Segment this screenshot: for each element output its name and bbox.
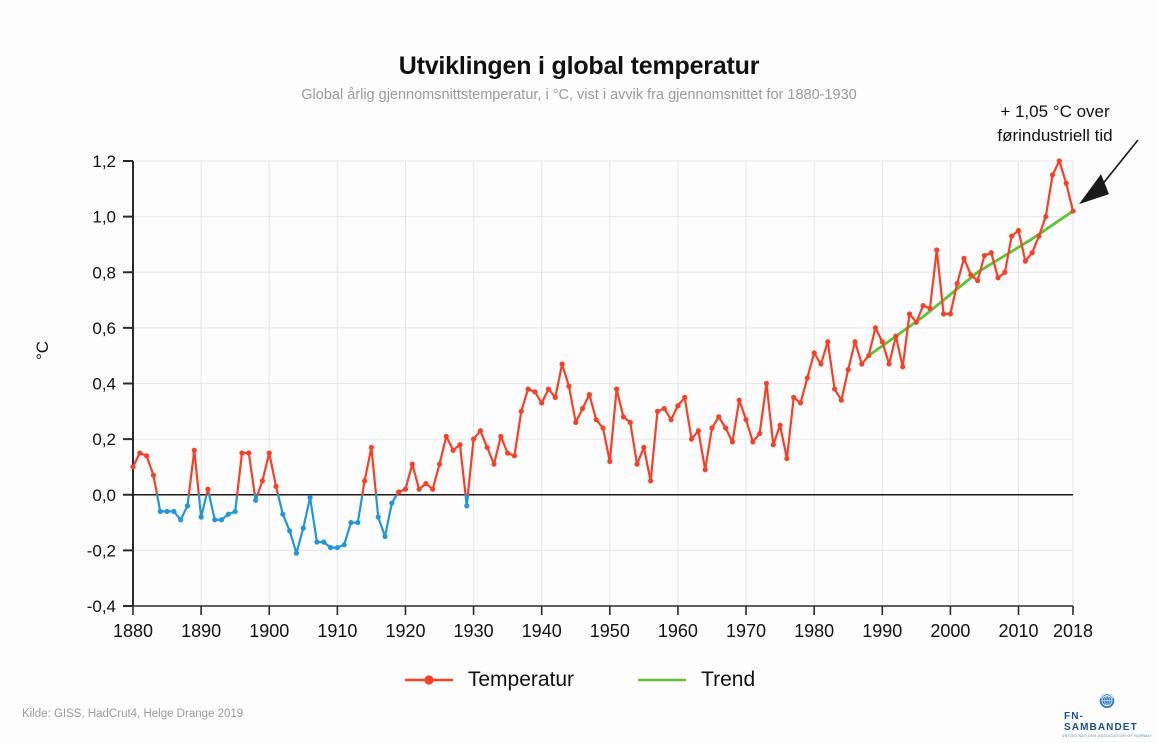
logo-wordmark: FN-SAMBANDET — [1064, 711, 1150, 733]
fn-sambandet-logo: FN-SAMBANDET UNITED NATIONS ASSOCIATION … — [1064, 692, 1150, 738]
svg-text:0,4: 0,4 — [92, 375, 116, 394]
svg-text:1980: 1980 — [794, 621, 834, 641]
legend-item-temperatur: Temperatur — [403, 668, 574, 692]
logo-subtext: UNITED NATIONS ASSOCIATION OF NORWAY — [1062, 734, 1152, 738]
svg-text:0,0: 0,0 — [92, 486, 116, 505]
svg-text:1,0: 1,0 — [92, 208, 116, 227]
chart-legend: Temperatur Trend — [0, 668, 1158, 692]
svg-text:0,8: 0,8 — [92, 263, 116, 282]
svg-text:-0,2: -0,2 — [87, 541, 116, 560]
grid-lines — [133, 161, 1073, 606]
svg-text:1880: 1880 — [113, 621, 153, 641]
svg-text:1940: 1940 — [522, 621, 562, 641]
svg-text:-0,4: -0,4 — [87, 597, 116, 616]
legend-swatch-line — [636, 673, 688, 687]
y-axis-ticks: 1,21,00,80,60,40,20,0-0,2-0,4 — [87, 152, 133, 616]
x-axis-ticks: 1880189019001910192019301940195019601970… — [113, 606, 1093, 641]
svg-text:2000: 2000 — [930, 621, 970, 641]
temperature-data-markers — [130, 158, 1075, 555]
svg-text:1990: 1990 — [862, 621, 902, 641]
chart-page: Utviklingen i global temperatur Global å… — [0, 0, 1158, 743]
legend-swatch-line-marker — [403, 673, 455, 687]
source-note: Kilde: GISS, HadCrut4, Helge Drange 2019 — [22, 708, 243, 720]
legend-item-trend: Trend — [636, 668, 755, 692]
trend-line-series — [869, 211, 1073, 356]
svg-text:2010: 2010 — [998, 621, 1038, 641]
svg-text:2018: 2018 — [1053, 621, 1093, 641]
svg-text:0,6: 0,6 — [92, 319, 116, 338]
annotation-arrow — [1079, 140, 1138, 204]
svg-text:1900: 1900 — [249, 621, 289, 641]
svg-text:0,2: 0,2 — [92, 430, 116, 449]
svg-text:1970: 1970 — [726, 621, 766, 641]
svg-text:1890: 1890 — [181, 621, 221, 641]
svg-text:1910: 1910 — [317, 621, 357, 641]
temperature-chart-plot: 1,21,00,80,60,40,20,0-0,2-0,4 1880189019… — [0, 0, 1158, 743]
svg-text:1930: 1930 — [454, 621, 494, 641]
legend-label-temperatur: Temperatur — [468, 668, 574, 692]
y-axis-title: °C — [33, 341, 53, 360]
un-emblem-icon — [1092, 692, 1122, 710]
svg-text:1960: 1960 — [658, 621, 698, 641]
svg-text:1920: 1920 — [385, 621, 425, 641]
legend-label-trend: Trend — [701, 668, 755, 692]
svg-text:1950: 1950 — [590, 621, 630, 641]
svg-text:1,2: 1,2 — [92, 152, 116, 171]
